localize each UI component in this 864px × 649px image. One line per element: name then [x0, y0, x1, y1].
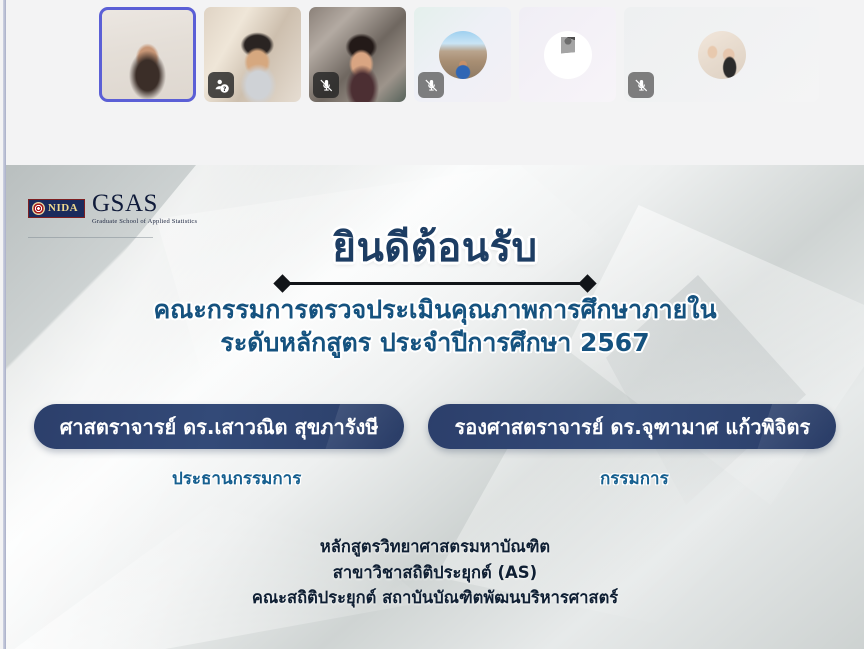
participant-tile-1[interactable]: [99, 7, 196, 102]
participant-tile-6[interactable]: [624, 7, 819, 102]
footer-line-2: สาขาวิชาสถิติประยุกต์ (AS): [6, 560, 864, 586]
committee-name-member: รองศาสตราจารย์ ดร.จุฑามาศ แก้วพิจิตร: [454, 411, 810, 443]
mic-muted-badge: [628, 72, 654, 98]
mic-muted-icon: [319, 78, 334, 93]
nida-gsas-logo: NIDA GSAS Graduate School of Applied Sta…: [28, 191, 197, 225]
participant-tile-5[interactable]: [519, 7, 616, 102]
diamond-right-icon: [578, 274, 596, 292]
person-unknown-badge: ?: [208, 72, 234, 98]
committee-pill-member: รองศาสตราจารย์ ดร.จุฑามาศ แก้วพิจิตร: [428, 404, 836, 449]
mic-muted-icon: [634, 78, 649, 93]
gsas-text-block: GSAS Graduate School of Applied Statisti…: [92, 191, 197, 225]
avatar: [544, 31, 592, 79]
subheading-line-2: ระดับหลักสูตร ประจำปีการศึกษา 2567: [6, 326, 864, 359]
meeting-presentation-view: ?: [0, 0, 864, 649]
subheading-line-1: คณะกรรมการตรวจประเมินคุณภาพการศึกษาภายใน: [6, 293, 864, 326]
mic-muted-icon: [424, 78, 439, 93]
committee-name-chair: ศาสตราจารย์ ดร.เสาวณิต สุขภารังษี: [60, 411, 379, 443]
avatar: [439, 31, 487, 79]
footer-line-1: หลักสูตรวิทยาศาสตรมหาบัณฑิต: [6, 534, 864, 560]
footer-line-3: คณะสถิติประยุกต์ สถาบันบัณฑิตพัฒนบริหารศ…: [6, 585, 864, 611]
committee-role-chair: ประธานกรรมการ: [172, 465, 301, 492]
slide-footer: หลักสูตรวิทยาศาสตรมหาบัณฑิต สาขาวิชาสถิต…: [6, 534, 864, 611]
avatar: [698, 31, 746, 79]
slide-headline: ยินดีต้อนรับ: [6, 225, 864, 271]
headline-divider: [276, 276, 594, 290]
nida-seal-icon: [32, 202, 45, 215]
person-question-icon: ?: [213, 77, 230, 94]
slide-subheading: คณะกรรมการตรวจประเมินคุณภาพการศึกษาภายใน…: [6, 293, 864, 359]
participant-tile-2[interactable]: ?: [204, 7, 301, 102]
participant-tile-3[interactable]: [309, 7, 406, 102]
window-left-border: [3, 0, 6, 649]
participant-filmstrip: ?: [6, 0, 864, 164]
diamond-left-icon: [273, 274, 291, 292]
participant-tile-4[interactable]: [414, 7, 511, 102]
nida-badge: NIDA: [28, 199, 85, 218]
gsas-subtitle: Graduate School of Applied Statistics: [92, 218, 197, 225]
svg-text:?: ?: [222, 85, 226, 92]
committee-pill-chair: ศาสตราจารย์ ดร.เสาวณิต สุขภารังษี: [34, 404, 405, 449]
committee-role-member: กรรมการ: [600, 465, 669, 492]
committee-name-row: ศาสตราจารย์ ดร.เสาวณิต สุขภารังษี รองศาส…: [6, 404, 864, 449]
slide-headline-wrap: ยินดีต้อนรับ: [6, 225, 864, 271]
mic-muted-badge: [418, 72, 444, 98]
gsas-acronym: GSAS: [92, 191, 197, 216]
divider-bar: [289, 282, 581, 285]
mic-muted-badge: [313, 72, 339, 98]
shared-slide[interactable]: NIDA GSAS Graduate School of Applied Sta…: [6, 165, 864, 649]
nida-wordmark: NIDA: [48, 203, 78, 214]
